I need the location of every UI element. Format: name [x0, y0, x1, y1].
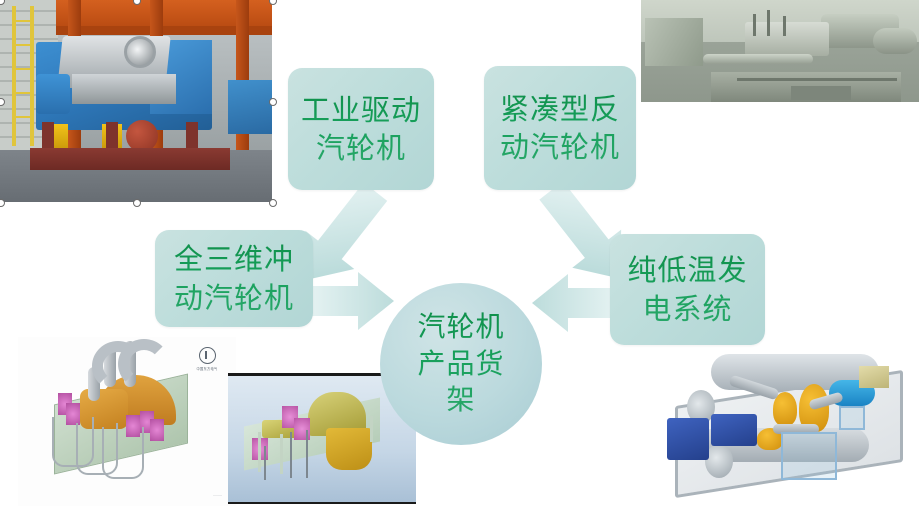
ladder-rung	[12, 20, 34, 22]
vendor-mark-icon	[199, 347, 216, 364]
render-control-building	[645, 18, 703, 66]
render-stanchion	[783, 16, 786, 36]
cad-vendor-logo: 中国东方电气	[190, 347, 224, 371]
orc-control-box	[711, 414, 757, 446]
cad-pipe-elbow	[118, 339, 170, 389]
render-stanchion	[767, 10, 770, 36]
selection-handle-sw[interactable]	[0, 199, 5, 207]
ladder-rail-left	[12, 6, 16, 146]
ladder-rung	[12, 68, 34, 70]
orc-terminal-box	[859, 366, 889, 388]
node-label: 紧凑型反 动汽轮机	[500, 90, 620, 167]
render-condenser-cylinder	[873, 28, 917, 54]
vendor-logo-text: 中国东方电气	[190, 366, 224, 371]
background-turbine-unit	[228, 80, 272, 134]
render-plant[interactable]	[641, 0, 919, 102]
cad-spring-support	[150, 419, 164, 441]
node-industrial-drive-turbine[interactable]: 工业驱动 汽轮机	[288, 68, 434, 190]
hub-label: 汽轮机 产品货 架	[417, 309, 504, 418]
render-hp-module	[745, 22, 829, 56]
slide-canvas: 中国东方电气 ·········	[0, 0, 919, 506]
turbine-steam-flange	[124, 36, 156, 68]
arrow-industrial-drive-to-hub	[330, 188, 440, 308]
selection-handle-s[interactable]	[133, 199, 141, 207]
ladder-rung	[12, 116, 34, 118]
hub-turbine-product-shelf[interactable]: 汽轮机 产品货 架	[380, 283, 542, 445]
orc-support-cage	[781, 432, 837, 480]
node-pure-low-temperature-power-system[interactable]: 纯低温发 电系统	[610, 234, 765, 345]
selection-handle-ne[interactable]	[269, 0, 277, 5]
render-aux-skid	[791, 86, 851, 100]
cad-condenser[interactable]: 中国东方电气 ·········	[18, 337, 236, 506]
cad-column	[280, 434, 283, 474]
cad-hanger-rod	[264, 446, 266, 480]
render-main-steam-pipe	[703, 54, 813, 64]
orc-vessel-head	[705, 444, 733, 478]
node-compact-reaction-turbine[interactable]: 紧凑型反 动汽轮机	[484, 66, 636, 190]
arrow-compact-reaction-to-hub	[485, 188, 595, 308]
cad-hanger-rod	[290, 432, 292, 478]
ladder-rung	[12, 92, 34, 94]
cad-caption-text: ·········	[213, 494, 222, 498]
cad-column	[370, 416, 373, 442]
node-label: 全三维冲 动汽轮机	[174, 240, 294, 317]
cad-hanger-rod	[306, 430, 308, 478]
cad-column	[258, 432, 261, 472]
node-full-3d-impulse-turbine[interactable]: 全三维冲 动汽轮机	[155, 230, 313, 327]
turbine-gearbox	[36, 74, 70, 114]
red-support-frame	[30, 148, 230, 170]
node-label: 工业驱动 汽轮机	[301, 91, 421, 168]
render-pipe-rack	[737, 78, 897, 81]
turbine-mid-shell	[72, 74, 176, 104]
cad-orc[interactable]	[653, 336, 913, 506]
node-label: 纯低温发 电系统	[627, 251, 747, 328]
ladder-rail-right	[30, 6, 34, 146]
selection-handle-se[interactable]	[269, 199, 277, 207]
cad-exhaust-block	[326, 428, 372, 470]
render-stanchion	[753, 14, 756, 36]
photo-turbine-hall[interactable]	[0, 0, 272, 202]
orc-support-cage	[839, 406, 865, 430]
ladder-rung	[12, 44, 34, 46]
cad-loop-pipe	[102, 427, 144, 479]
orc-pump-module	[667, 418, 709, 460]
selection-handle-e[interactable]	[269, 98, 277, 106]
